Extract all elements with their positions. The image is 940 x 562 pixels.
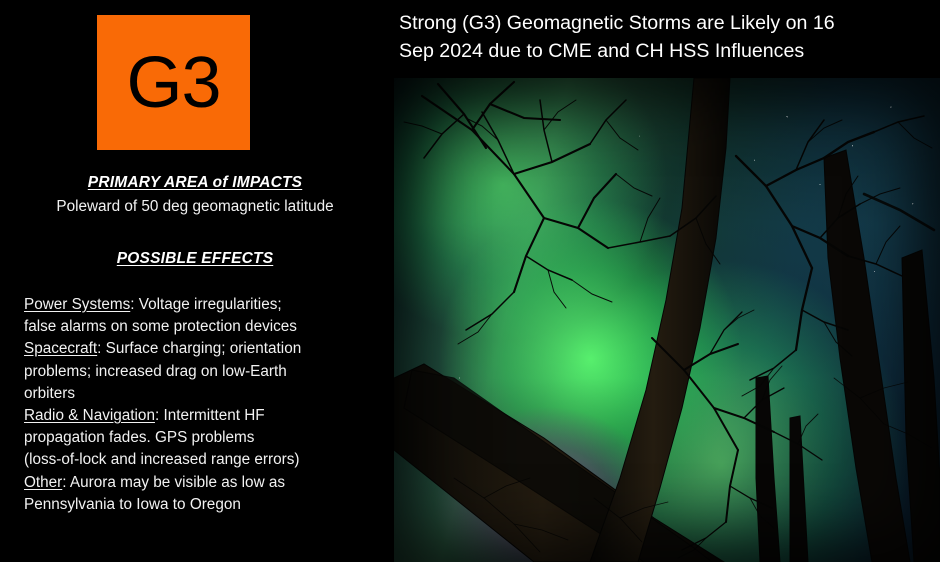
effect-text-spacecraft-2-row: orbiters [24,383,380,405]
effect-text-radio-navigation-2: (loss-of-lock and increased range errors… [24,451,299,468]
effect-text-power-systems-1-row: false alarms on some protection devices [24,316,380,338]
effect-text-power-systems-0: : Voltage irregularities; [130,296,281,313]
effect-text-power-systems-1: false alarms on some protection devices [24,318,297,335]
possible-effects-heading: POSSIBLE EFFECTS [0,250,390,268]
g3-scale-badge: G3 [97,15,250,150]
effect-text-radio-navigation-0: : Intermittent HF [155,407,265,424]
possible-effects-list: Power Systems: Voltage irregularities; f… [24,294,380,516]
effect-text-radio-navigation-2-row: (loss-of-lock and increased range errors… [24,449,380,471]
effect-text-spacecraft-1-row: problems; increased drag on low-Earth [24,361,380,383]
impacts-panel: G3 PRIMARY AREA of IMPACTS Poleward of 5… [0,0,390,562]
effect-text-radio-navigation-1: propagation fades. GPS problems [24,429,254,446]
effect-text-other-1-row: Pennsylvania to Iowa to Oregon [24,494,380,516]
storm-alert-slide: G3 PRIMARY AREA of IMPACTS Poleward of 5… [0,0,940,562]
effect-text-spacecraft-1: problems; increased drag on low-Earth [24,363,287,380]
primary-area-heading: PRIMARY AREA of IMPACTS [0,174,390,192]
effect-item-other: Other: Aurora may be visible as low as [24,472,380,494]
effect-text-other-1: Pennsylvania to Iowa to Oregon [24,496,241,513]
headline-and-photo-panel: Strong (G3) Geomagnetic Storms are Likel… [390,0,940,562]
g3-scale-badge-label: G3 [126,47,220,119]
primary-area-heading-text: PRIMARY AREA of IMPACTS [88,174,302,191]
page-title: Strong (G3) Geomagnetic Storms are Likel… [399,9,940,65]
effect-term-radio-navigation: Radio & Navigation [24,407,155,424]
effect-text-other-0: : Aurora may be visible as low as [62,474,285,491]
tree-silhouettes [394,78,940,562]
effect-text-spacecraft-2: orbiters [24,385,75,402]
effect-text-radio-navigation-1-row: propagation fades. GPS problems [24,427,380,449]
aurora-photo [394,78,940,562]
effect-item-spacecraft: Spacecraft: Surface charging; orientatio… [24,338,380,360]
effect-item-power-systems: Power Systems: Voltage irregularities; [24,294,380,316]
effect-item-radio-navigation: Radio & Navigation: Intermittent HF [24,405,380,427]
possible-effects-heading-text: POSSIBLE EFFECTS [117,250,274,267]
effect-term-power-systems: Power Systems [24,296,130,313]
effect-term-other: Other [24,474,62,491]
primary-area-value: Poleward of 50 deg geomagnetic latitude [0,198,390,216]
effect-text-spacecraft-0: : Surface charging; orientation [97,340,301,357]
effect-term-spacecraft: Spacecraft [24,340,97,357]
